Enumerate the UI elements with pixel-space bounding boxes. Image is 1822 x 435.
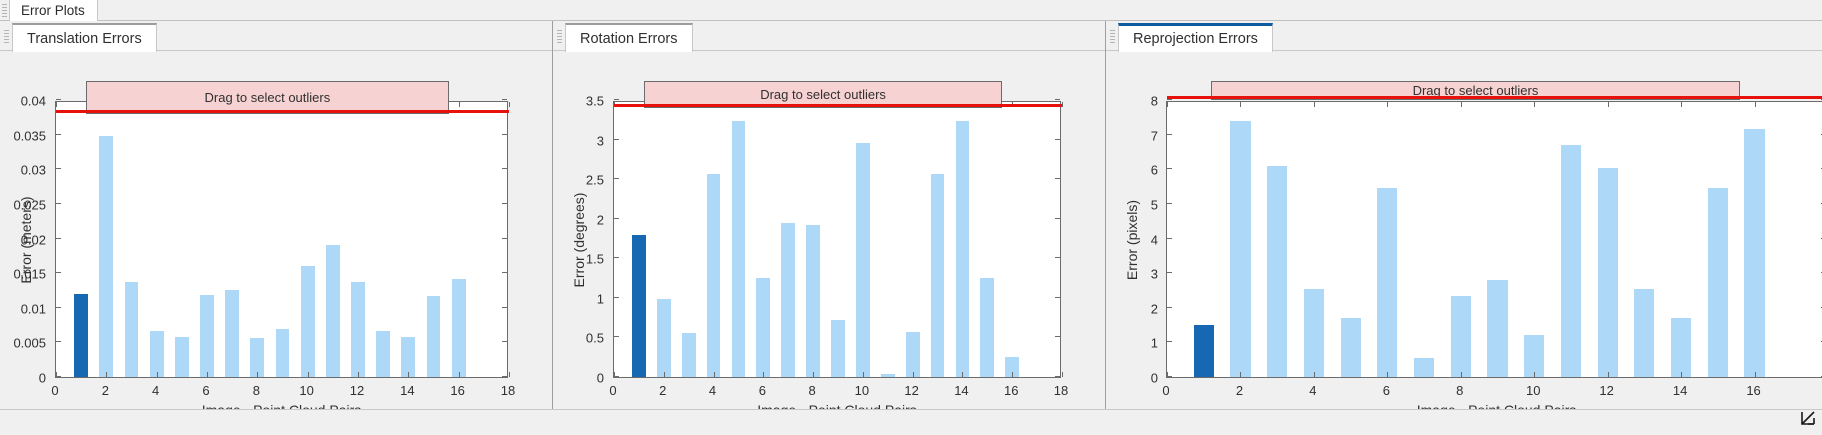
document-tab-grip[interactable] xyxy=(2,4,7,17)
status-bar xyxy=(0,409,1822,430)
y-tick-mark xyxy=(614,139,619,140)
bar[interactable] xyxy=(301,266,315,377)
y-tick-mark-right xyxy=(502,238,507,239)
y-tick-mark-right xyxy=(1055,99,1060,100)
bar[interactable] xyxy=(1744,129,1764,377)
y-tick-label: 7 xyxy=(1151,128,1158,143)
x-tick-mark xyxy=(308,372,309,377)
bar[interactable] xyxy=(351,282,365,377)
bar[interactable] xyxy=(200,295,214,377)
x-tick-mark xyxy=(257,372,258,377)
y-tick-mark-right xyxy=(1055,257,1060,258)
y-axis-label: Error (degrees) xyxy=(571,192,587,287)
x-tick-mark xyxy=(408,372,409,377)
bar[interactable] xyxy=(376,331,390,377)
x-tick-label: 8 xyxy=(808,383,815,398)
bar[interactable] xyxy=(1451,296,1471,377)
bar[interactable] xyxy=(632,235,646,377)
y-tick-mark-right xyxy=(1055,336,1060,337)
x-tick-label: 18 xyxy=(501,383,515,398)
bar[interactable] xyxy=(74,294,88,377)
x-tick-label: 8 xyxy=(253,383,260,398)
x-axis-label: Image - Point Cloud Pairs xyxy=(55,402,508,409)
y-tick-mark xyxy=(56,307,61,308)
bar[interactable] xyxy=(1671,318,1691,377)
y-tick-label: 3.5 xyxy=(586,94,604,109)
x-tick-label: 16 xyxy=(1004,383,1018,398)
plot-area[interactable]: Drag to select outliers xyxy=(613,101,1061,378)
bar[interactable] xyxy=(1230,121,1250,377)
bar[interactable] xyxy=(831,320,845,377)
y-tick-mark xyxy=(614,257,619,258)
y-axis-label: Error (meters) xyxy=(18,196,34,283)
x-tick-label: 6 xyxy=(202,383,209,398)
y-tick-mark xyxy=(56,203,61,204)
bar[interactable] xyxy=(1341,318,1361,377)
x-tick-mark xyxy=(863,372,864,377)
y-tick-mark-right xyxy=(502,341,507,342)
y-tick-mark xyxy=(614,336,619,337)
panel-reprojection-errors: Reprojection ErrorsDrag to select outlie… xyxy=(1106,21,1822,409)
y-tick-label: 0.01 xyxy=(21,301,46,316)
bar[interactable] xyxy=(1708,188,1728,377)
x-tick-mark xyxy=(1240,372,1241,377)
x-tick-mark xyxy=(1314,372,1315,377)
y-tick-label: 3 xyxy=(1151,267,1158,282)
bar[interactable] xyxy=(1267,166,1287,377)
x-tick-mark xyxy=(664,372,665,377)
panel-tab-grip[interactable] xyxy=(557,30,562,43)
x-tick-label: 16 xyxy=(450,383,464,398)
y-tick-mark-right xyxy=(502,99,507,100)
y-tick-mark xyxy=(1167,238,1172,239)
bar[interactable] xyxy=(125,282,139,377)
x-tick-mark-top xyxy=(1167,102,1168,107)
bar[interactable] xyxy=(99,136,113,377)
y-tick-mark-right xyxy=(1055,218,1060,219)
x-tick-mark xyxy=(813,372,814,377)
x-tick-mark xyxy=(207,372,208,377)
bar[interactable] xyxy=(856,143,870,377)
x-tick-label: 14 xyxy=(1673,383,1687,398)
y-tick-label: 0.5 xyxy=(586,331,604,346)
x-tick-mark-top xyxy=(459,102,460,107)
x-tick-mark xyxy=(1062,372,1063,377)
figure: Drag to select outliers00.0050.010.0150.… xyxy=(0,51,552,409)
panel-rotation-errors: Rotation ErrorsDrag to select outliers00… xyxy=(553,21,1106,409)
y-tick-mark-right xyxy=(502,376,507,377)
panel-tab-grip[interactable] xyxy=(1110,30,1115,43)
y-tick-mark xyxy=(614,178,619,179)
y-tick-label: 0 xyxy=(1151,371,1158,386)
x-tick-mark xyxy=(459,372,460,377)
x-tick-mark-top xyxy=(1387,102,1388,107)
bar[interactable] xyxy=(980,278,994,377)
x-tick-label: 14 xyxy=(954,383,968,398)
x-tick-mark-top xyxy=(1681,102,1682,107)
y-tick-mark xyxy=(56,376,61,377)
x-tick-label: 2 xyxy=(1236,383,1243,398)
bar[interactable] xyxy=(276,329,290,377)
y-tick-mark-right xyxy=(1055,297,1060,298)
y-tick-mark-right xyxy=(502,168,507,169)
y-tick-label: 0 xyxy=(597,371,604,386)
outlier-band-label: Drag to select outliers xyxy=(760,87,886,102)
x-tick-label: 12 xyxy=(350,383,364,398)
x-tick-mark-top xyxy=(1461,102,1462,107)
x-tick-mark xyxy=(714,372,715,377)
x-axis-label: Image - Point Cloud Pairs xyxy=(1166,402,1822,409)
bar[interactable] xyxy=(1487,280,1507,377)
bar[interactable] xyxy=(781,223,795,377)
bar[interactable] xyxy=(1304,289,1324,377)
y-tick-mark-right xyxy=(502,272,507,273)
x-tick-mark-top xyxy=(1062,102,1063,107)
bar[interactable] xyxy=(326,245,340,377)
bar[interactable] xyxy=(175,337,189,377)
y-tick-mark xyxy=(614,99,619,100)
threshold-line[interactable] xyxy=(614,104,1062,107)
y-tick-label: 4 xyxy=(1151,232,1158,247)
y-tick-mark xyxy=(1167,376,1172,377)
outlier-band-label: Drag to select outliers xyxy=(205,90,331,105)
plot-area[interactable]: Drag to select outliers xyxy=(1166,101,1822,378)
y-tick-label: 0.03 xyxy=(21,163,46,178)
x-tick-label: 0 xyxy=(1162,383,1169,398)
x-tick-label: 2 xyxy=(659,383,666,398)
x-tick-mark-top xyxy=(1314,102,1315,107)
y-tick-label: 2 xyxy=(1151,301,1158,316)
bar[interactable] xyxy=(682,333,696,377)
x-tick-label: 0 xyxy=(609,383,616,398)
y-tick-mark xyxy=(614,376,619,377)
x-tick-label: 18 xyxy=(1054,383,1068,398)
y-tick-mark xyxy=(56,272,61,273)
x-tick-mark xyxy=(157,372,158,377)
y-tick-mark-right xyxy=(502,307,507,308)
y-tick-label: 6 xyxy=(1151,163,1158,178)
panel-translation-errors: Translation ErrorsDrag to select outlier… xyxy=(0,21,553,409)
x-tick-label: 14 xyxy=(400,383,414,398)
x-tick-mark-top xyxy=(56,102,57,107)
resize-arrow-icon[interactable] xyxy=(1798,409,1820,430)
x-tick-label: 2 xyxy=(102,383,109,398)
y-tick-label: 0.035 xyxy=(13,128,46,143)
x-tick-mark xyxy=(1012,372,1013,377)
x-tick-label: 4 xyxy=(709,383,716,398)
x-tick-mark xyxy=(1681,372,1682,377)
y-tick-mark xyxy=(56,99,61,100)
bar[interactable] xyxy=(881,374,895,377)
x-tick-mark xyxy=(763,372,764,377)
x-tick-mark xyxy=(106,372,107,377)
bar[interactable] xyxy=(427,296,441,377)
bar[interactable] xyxy=(225,290,239,377)
bar[interactable] xyxy=(806,225,820,377)
x-tick-label: 10 xyxy=(1526,383,1540,398)
y-tick-mark xyxy=(1167,341,1172,342)
y-tick-label: 0.005 xyxy=(13,336,46,351)
y-tick-mark xyxy=(1167,134,1172,135)
panel-tabstrip: Reprojection Errors xyxy=(1106,21,1822,51)
y-tick-mark xyxy=(1167,272,1172,273)
y-tick-mark xyxy=(56,168,61,169)
y-tick-label: 1 xyxy=(597,291,604,306)
panel-tab-grip[interactable] xyxy=(4,30,9,43)
panel-tabstrip: Translation Errors xyxy=(0,21,552,51)
y-axis-label: Error (pixels) xyxy=(1124,199,1140,279)
x-tick-label: 12 xyxy=(1599,383,1613,398)
x-tick-label: 12 xyxy=(904,383,918,398)
bar[interactable] xyxy=(1414,358,1434,377)
figure: Drag to select outliers00.511.522.533.50… xyxy=(553,51,1105,409)
y-tick-mark-right xyxy=(1055,376,1060,377)
y-tick-label: 1 xyxy=(1151,336,1158,351)
y-tick-mark xyxy=(1167,307,1172,308)
y-tick-label: 1.5 xyxy=(586,252,604,267)
bar[interactable] xyxy=(956,121,970,377)
y-tick-mark-right xyxy=(1055,178,1060,179)
bar[interactable] xyxy=(756,278,770,377)
y-tick-mark xyxy=(614,297,619,298)
x-tick-label: 10 xyxy=(855,383,869,398)
x-tick-mark xyxy=(1387,372,1388,377)
y-tick-mark xyxy=(56,238,61,239)
threshold-line[interactable] xyxy=(56,110,509,113)
bar[interactable] xyxy=(732,121,746,377)
x-tick-mark xyxy=(1755,372,1756,377)
y-tick-mark xyxy=(56,134,61,135)
y-tick-mark-right xyxy=(502,134,507,135)
tab-translation-errors[interactable]: Translation Errors xyxy=(12,23,157,52)
x-tick-mark xyxy=(358,372,359,377)
figure: Drag to select outliers01234567802468101… xyxy=(1106,51,1822,409)
bar[interactable] xyxy=(657,299,671,377)
bar[interactable] xyxy=(931,174,945,377)
y-tick-label: 0 xyxy=(39,371,46,386)
bar[interactable] xyxy=(452,279,466,377)
plot-area[interactable]: Drag to select outliers xyxy=(55,101,508,378)
x-tick-mark xyxy=(962,372,963,377)
y-tick-mark xyxy=(614,218,619,219)
y-tick-mark xyxy=(56,341,61,342)
x-tick-label: 16 xyxy=(1746,383,1760,398)
y-tick-label: 3 xyxy=(597,133,604,148)
x-tick-mark xyxy=(913,372,914,377)
bar[interactable] xyxy=(1634,289,1654,377)
x-tick-mark-top xyxy=(1534,102,1535,107)
bar[interactable] xyxy=(1598,168,1618,377)
y-tick-label: 5 xyxy=(1151,197,1158,212)
x-tick-label: 6 xyxy=(759,383,766,398)
bar[interactable] xyxy=(1561,145,1581,377)
y-tick-label: 2.5 xyxy=(586,173,604,188)
document-tabstrip: Error Plots xyxy=(0,0,1822,21)
panel-container: Translation ErrorsDrag to select outlier… xyxy=(0,21,1822,409)
x-tick-label: 4 xyxy=(1309,383,1316,398)
bar[interactable] xyxy=(906,332,920,377)
x-tick-mark xyxy=(1461,372,1462,377)
x-axis-label: Image - Point Cloud Pairs xyxy=(613,402,1061,409)
x-tick-label: 8 xyxy=(1456,383,1463,398)
y-tick-mark xyxy=(1167,203,1172,204)
x-tick-mark-top xyxy=(1608,102,1609,107)
document-tab-error-plots[interactable]: Error Plots xyxy=(9,0,98,21)
x-tick-mark xyxy=(1608,372,1609,377)
bar[interactable] xyxy=(1377,188,1397,377)
x-tick-mark xyxy=(1534,372,1535,377)
y-tick-mark-right xyxy=(1055,139,1060,140)
x-tick-label: 0 xyxy=(51,383,58,398)
x-tick-mark xyxy=(509,372,510,377)
outlier-drag-band[interactable]: Drag to select outliers xyxy=(86,81,448,114)
bar[interactable] xyxy=(1194,325,1214,377)
tab-reprojection-errors[interactable]: Reprojection Errors xyxy=(1118,23,1273,52)
y-tick-label: 2 xyxy=(597,212,604,227)
y-tick-mark xyxy=(1167,168,1172,169)
x-tick-label: 6 xyxy=(1383,383,1390,398)
x-tick-mark-top xyxy=(1755,102,1756,107)
y-tick-label: 0.04 xyxy=(21,94,46,109)
bar[interactable] xyxy=(150,331,164,377)
tab-rotation-errors[interactable]: Rotation Errors xyxy=(565,23,693,52)
x-tick-label: 10 xyxy=(299,383,313,398)
bar[interactable] xyxy=(707,174,721,377)
x-tick-mark-top xyxy=(509,102,510,107)
threshold-line[interactable] xyxy=(1167,96,1822,99)
x-tick-mark-top xyxy=(1240,102,1241,107)
panel-tabstrip: Rotation Errors xyxy=(553,21,1105,51)
x-tick-label: 4 xyxy=(152,383,159,398)
y-tick-label: 8 xyxy=(1151,94,1158,109)
bar[interactable] xyxy=(401,337,415,377)
bar[interactable] xyxy=(1524,335,1544,377)
y-tick-mark-right xyxy=(502,203,507,204)
